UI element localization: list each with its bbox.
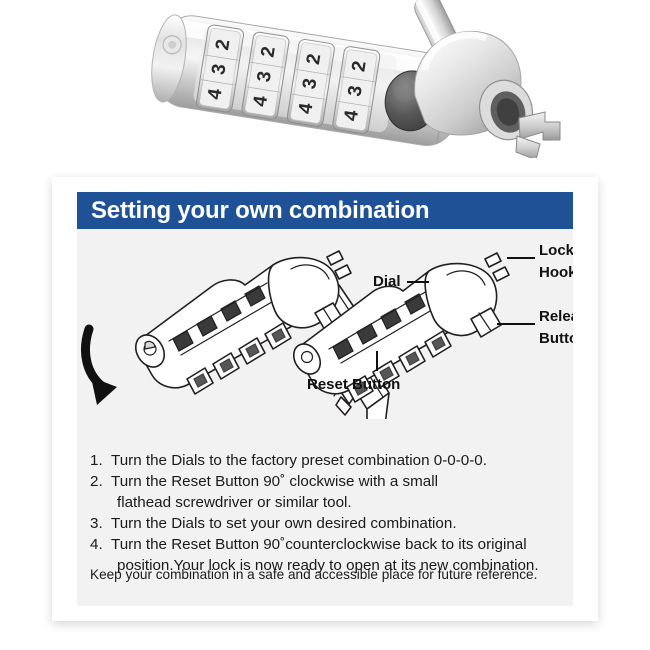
list-item: 4. Turn the Reset Button 90˚counterclock… [90,534,550,555]
list-item: 1. Turn the Dials to the factory preset … [90,450,550,471]
list-item: 2. Turn the Reset Button 90˚ clockwise w… [90,471,550,492]
combination-cable-lock-photo: 2 3 4 2 3 4 [0,0,650,172]
step-text: Turn the Dials to the factory preset com… [111,450,550,471]
page-title: Setting your own combination [91,197,429,225]
instruction-card: Setting your own combination [52,177,598,621]
product-photo-area: 2 3 4 2 3 4 [0,0,650,172]
locking-hook-shape [485,253,501,267]
label-locking-hook-line2: Hook [539,264,573,281]
step-number: 1. [90,450,111,471]
label-release-button-line2: Button [539,330,573,347]
step-continuation: flathead screwdriver or similar tool. [111,492,550,513]
label-locking-hook-line1: Locking [539,242,573,259]
step-number: 3. [90,513,111,534]
label-reset-button: Reset Button [307,376,400,393]
step-text: Turn the Reset Button 90˚counterclockwis… [111,534,550,555]
card-title-bar: Setting your own combination [77,192,573,229]
step-number: 4. [90,534,111,555]
label-dial: Dial [373,273,401,290]
instruction-steps-list: 1. Turn the Dials to the factory preset … [90,450,550,576]
lock-diagram: 90° [77,229,573,419]
step-number: 2. [90,471,111,492]
step-text: Turn the Reset Button 90˚ clockwise with… [111,471,550,492]
footnote-text: Keep your combination in a safe and acce… [90,566,560,584]
label-release-button-line1: Release [539,308,573,325]
list-item: 3. Turn the Dials to set your own desire… [90,513,550,534]
step-text: Turn the Dials to set your own desired c… [111,513,550,534]
rotation-arrow-icon [85,329,117,405]
